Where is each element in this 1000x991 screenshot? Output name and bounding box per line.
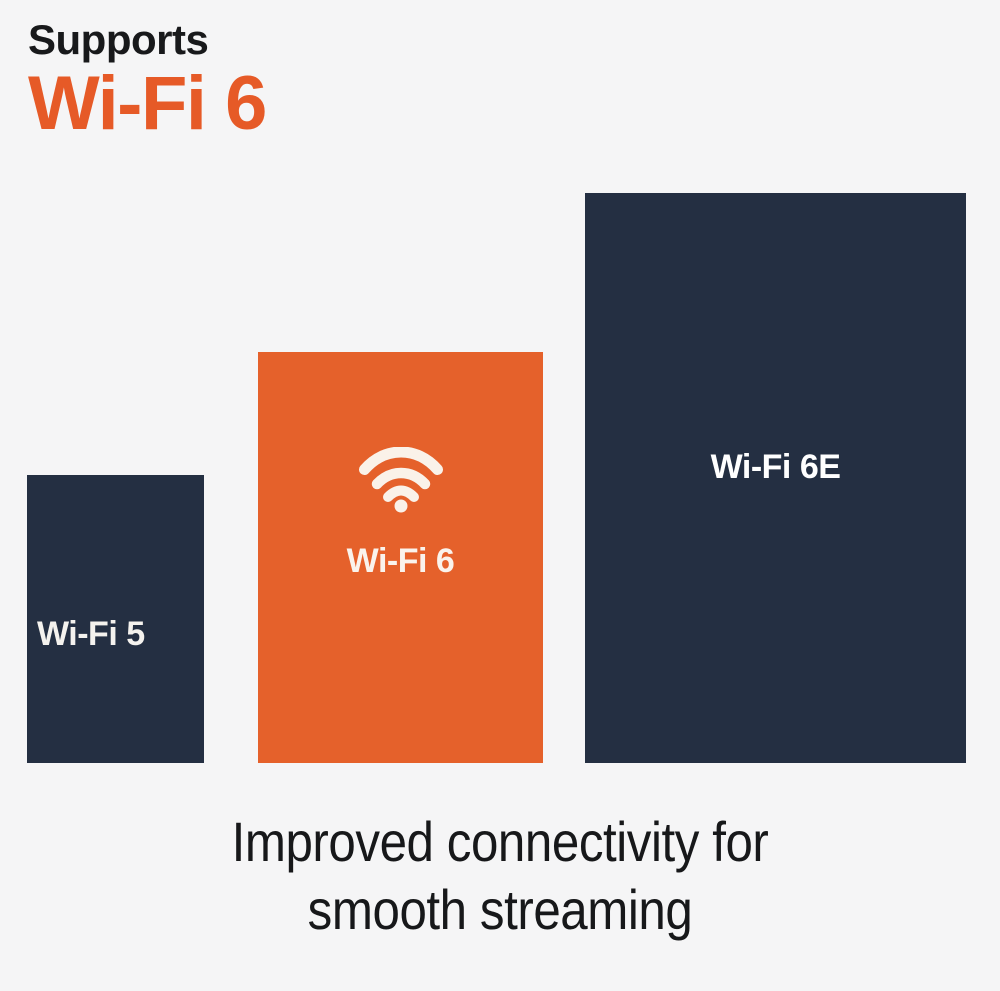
wifi-signal-icon	[358, 447, 444, 513]
bar-wifi6: Wi-Fi 6	[258, 352, 543, 763]
heading-block: Supports Wi-Fi 6	[28, 16, 528, 146]
bar-label-wifi5: Wi-Fi 5	[37, 615, 145, 654]
bar-wifi6e: Wi-Fi 6E	[585, 193, 966, 763]
supports-heading: Supports	[28, 16, 528, 64]
caption-line-1: Improved connectivity for	[60, 808, 940, 876]
wifi-comparison-graphic: Supports Wi-Fi 6 Wi-Fi 5 Wi-Fi 6 Wi-Fi 6…	[0, 0, 1000, 991]
caption: Improved connectivity for smooth streami…	[60, 808, 940, 944]
bar-label-wifi6e: Wi-Fi 6E	[585, 448, 966, 487]
bar-wifi5: Wi-Fi 5	[27, 475, 204, 763]
caption-line-2: smooth streaming	[60, 876, 940, 944]
wifi6-heading: Wi-Fi 6	[28, 62, 528, 146]
bar-label-wifi6: Wi-Fi 6	[258, 542, 543, 581]
